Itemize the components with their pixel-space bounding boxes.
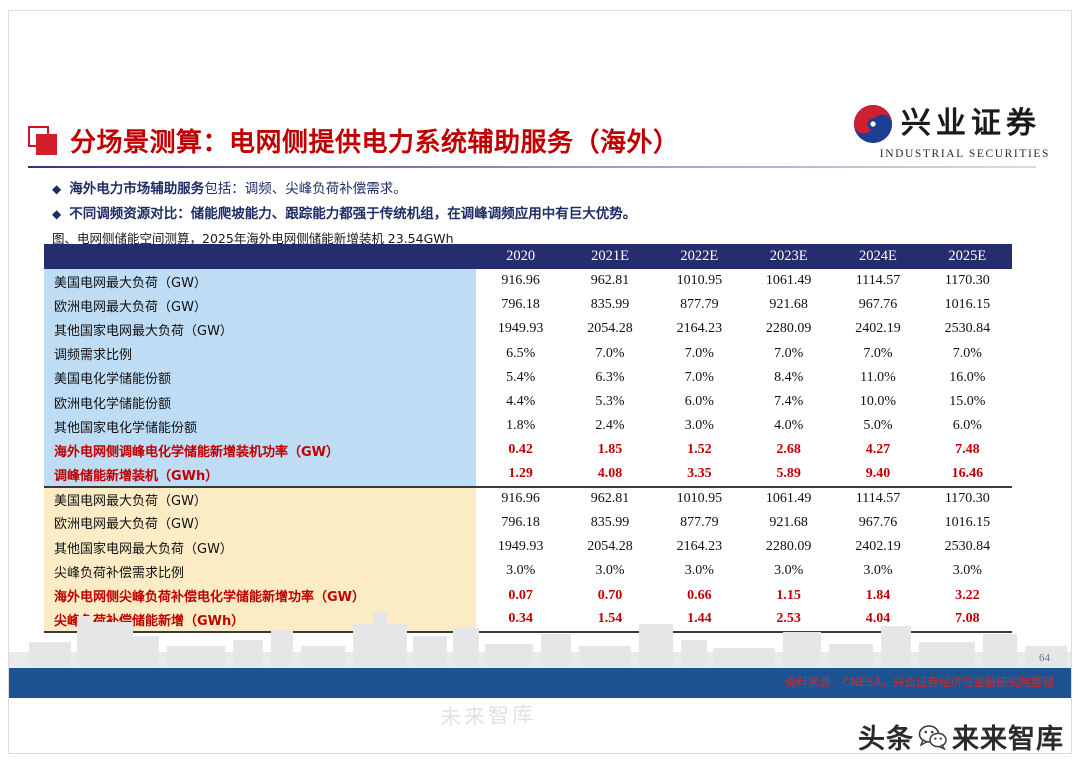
- table-cell: 1.52: [655, 438, 744, 462]
- bottom-watermark: 头条 来来智库: [858, 717, 1064, 756]
- table-cell: 1010.95: [655, 269, 744, 293]
- bullet-1-strong: 海外电力市场辅助服务: [69, 181, 204, 197]
- table-cell: 10.0%: [833, 390, 922, 414]
- row-label: 美国电化学储能份额: [44, 366, 476, 390]
- table-cell: 796.18: [476, 293, 565, 317]
- table-cell: 1170.30: [923, 269, 1012, 293]
- table-cell: 2530.84: [923, 535, 1012, 559]
- table-cell: 6.3%: [565, 366, 654, 390]
- table-cell: 3.0%: [833, 559, 922, 583]
- table-cell: 1.15: [744, 583, 833, 607]
- table-cell: 0.66: [655, 583, 744, 607]
- row-label: 欧洲电化学储能份额: [44, 390, 476, 414]
- table-cell: 4.4%: [476, 390, 565, 414]
- row-label: 其他国家电化学储能份额: [44, 414, 476, 438]
- row-label: 尖峰负荷补偿需求比例: [44, 559, 476, 583]
- table-cell: 921.68: [744, 293, 833, 317]
- table-cell: 7.0%: [744, 342, 833, 366]
- table-cell: 916.96: [476, 269, 565, 293]
- table-cell: 7.4%: [744, 390, 833, 414]
- source-note: 资料来源：CNESA，兴业证券经济与金融研究院整理: [785, 674, 1054, 690]
- table-cell: 0.07: [476, 583, 565, 607]
- col-header-2023e: 2023E: [744, 244, 833, 269]
- bullet-list: ◆ 海外电力市场辅助服务包括：调频、尖峰负荷补偿需求。 ◆ 不同调频资源对比：储…: [52, 180, 1012, 230]
- table-row: 其他国家电网最大负荷（GW）1949.932054.282164.232280.…: [44, 535, 1012, 559]
- col-header-2020: 2020: [476, 244, 565, 269]
- table-cell: 9.40: [833, 463, 922, 487]
- table-cell: 0.70: [565, 583, 654, 607]
- table-cell: 5.89: [744, 463, 833, 487]
- table-row: 美国电网最大负荷（GW）916.96962.811010.951061.4911…: [44, 269, 1012, 293]
- bullet-2-strong: 不同调频资源对比：储能爬坡能力、跟踪能力都强于传统机组，在调峰调频应用中有巨大优…: [69, 206, 636, 222]
- bullet-item-1: ◆ 海外电力市场辅助服务包括：调频、尖峰负荷补偿需求。: [52, 180, 1012, 199]
- table-cell: 967.76: [833, 511, 922, 535]
- table-cell: 2164.23: [655, 317, 744, 341]
- table-header: 2020 2021E 2022E 2023E 2024E 2025E: [44, 244, 1012, 269]
- table-row: 其他国家电化学储能份额1.8%2.4%3.0%4.0%5.0%6.0%: [44, 414, 1012, 438]
- table-cell: 2280.09: [744, 317, 833, 341]
- table-cell: 3.0%: [476, 559, 565, 583]
- table-row: 美国电网最大负荷（GW）916.96962.811010.951061.4911…: [44, 487, 1012, 511]
- col-header-2025e: 2025E: [923, 244, 1012, 269]
- table-cell: 7.0%: [923, 342, 1012, 366]
- table-cell: 835.99: [565, 293, 654, 317]
- table-cell: 2402.19: [833, 317, 922, 341]
- col-header-2021e: 2021E: [565, 244, 654, 269]
- table-cell: 7.48: [923, 438, 1012, 462]
- table-cell: 3.0%: [923, 559, 1012, 583]
- table-cell: 4.08: [565, 463, 654, 487]
- table-cell: 916.96: [476, 487, 565, 511]
- table-cell: 2054.28: [565, 317, 654, 341]
- table-cell: 3.0%: [655, 414, 744, 438]
- table-cell: 16.0%: [923, 366, 1012, 390]
- page-title-bar: 分场景测算：电网侧提供电力系统辅助服务（海外）: [28, 122, 680, 159]
- row-label: 调频需求比例: [44, 342, 476, 366]
- diamond-bullet-icon: ◆: [52, 205, 61, 224]
- table-cell: 1016.15: [923, 511, 1012, 535]
- table-cell: 1061.49: [744, 487, 833, 511]
- table-cell: 7.0%: [655, 342, 744, 366]
- red-square-accent-icon: [28, 126, 58, 156]
- table-cell: 1170.30: [923, 487, 1012, 511]
- page-number: 64: [1039, 652, 1050, 664]
- table-cell: 7.0%: [565, 342, 654, 366]
- table-cell: 5.3%: [565, 390, 654, 414]
- row-label: 美国电网最大负荷（GW）: [44, 269, 476, 293]
- table-cell: 796.18: [476, 511, 565, 535]
- table-cell: 2.4%: [565, 414, 654, 438]
- table-row: 美国电化学储能份额5.4%6.3%7.0%8.4%11.0%16.0%: [44, 366, 1012, 390]
- table-cell: 1010.95: [655, 487, 744, 511]
- data-table: 2020 2021E 2022E 2023E 2024E 2025E 美国电网最…: [44, 244, 1012, 633]
- page-title: 分场景测算：电网侧提供电力系统辅助服务（海外）: [70, 122, 680, 159]
- row-label: 海外电网侧调峰电化学储能新增装机功率（GW）: [44, 438, 476, 462]
- table-cell: 1949.93: [476, 317, 565, 341]
- table-row: 欧洲电网最大负荷（GW）796.18835.99877.79921.68967.…: [44, 293, 1012, 317]
- table-header-row: 2020 2021E 2022E 2023E 2024E 2025E: [44, 244, 1012, 269]
- title-divider: [28, 166, 1036, 168]
- table-cell: 962.81: [565, 269, 654, 293]
- brand-logo: 兴业证券 INDUSTRIAL SECURITIES: [844, 104, 1050, 160]
- table-cell: 7.0%: [833, 342, 922, 366]
- table-row: 海外电网侧尖峰负荷补偿电化学储能新增功率（GW）0.070.700.661.15…: [44, 583, 1012, 607]
- table-cell: 921.68: [744, 511, 833, 535]
- table-row: 欧洲电化学储能份额4.4%5.3%6.0%7.4%10.0%15.0%: [44, 390, 1012, 414]
- table-cell: 16.46: [923, 463, 1012, 487]
- table-cell: 877.79: [655, 293, 744, 317]
- table-cell: 1949.93: [476, 535, 565, 559]
- table-row: 欧洲电网最大负荷（GW）796.18835.99877.79921.68967.…: [44, 511, 1012, 535]
- row-label: 美国电网最大负荷（GW）: [44, 487, 476, 511]
- table-cell: 3.22: [923, 583, 1012, 607]
- slide-root: 兴业证券 INDUSTRIAL SECURITIES 分场景测算：电网侧提供电力…: [0, 0, 1080, 764]
- table-cell: 962.81: [565, 487, 654, 511]
- table-cell: 3.0%: [565, 559, 654, 583]
- table-cell: 11.0%: [833, 366, 922, 390]
- table-cell: 1114.57: [833, 269, 922, 293]
- table-cell: 4.0%: [744, 414, 833, 438]
- table-cell: 2054.28: [565, 535, 654, 559]
- table-cell: 7.0%: [655, 366, 744, 390]
- col-header-2024e: 2024E: [833, 244, 922, 269]
- table-cell: 1.84: [833, 583, 922, 607]
- table-cell: 2530.84: [923, 317, 1012, 341]
- row-label: 欧洲电网最大负荷（GW）: [44, 293, 476, 317]
- row-label: 其他国家电网最大负荷（GW）: [44, 535, 476, 559]
- table-cell: 1.29: [476, 463, 565, 487]
- table-cell: 5.4%: [476, 366, 565, 390]
- row-label: 其他国家电网最大负荷（GW）: [44, 317, 476, 341]
- table-cell: 2164.23: [655, 535, 744, 559]
- table-cell: 6.0%: [655, 390, 744, 414]
- bullet-item-2: ◆ 不同调频资源对比：储能爬坡能力、跟踪能力都强于传统机组，在调峰调频应用中有巨…: [52, 205, 1012, 224]
- table-row: 调峰储能新增装机（GWh）1.294.083.355.899.4016.46: [44, 463, 1012, 487]
- table-cell: 6.5%: [476, 342, 565, 366]
- row-label: 欧洲电网最大负荷（GW）: [44, 511, 476, 535]
- row-label: 调峰储能新增装机（GWh）: [44, 463, 476, 487]
- logo-chinese-name: 兴业证券: [901, 109, 1041, 139]
- table-cell: 1.8%: [476, 414, 565, 438]
- col-header-label: [44, 244, 476, 269]
- logo-english-name: INDUSTRIAL SECURITIES: [880, 148, 1050, 160]
- table-cell: 1.85: [565, 438, 654, 462]
- diamond-bullet-icon: ◆: [52, 180, 61, 199]
- table-cell: 6.0%: [923, 414, 1012, 438]
- table-cell: 4.27: [833, 438, 922, 462]
- wechat-icon: [918, 724, 948, 750]
- city-skyline-decoration: [9, 606, 1071, 668]
- table-cell: 2.68: [744, 438, 833, 462]
- swirl-logo-icon: [853, 104, 893, 144]
- table-cell: 15.0%: [923, 390, 1012, 414]
- table-body: 美国电网最大负荷（GW）916.96962.811010.951061.4911…: [44, 269, 1012, 632]
- table-cell: 967.76: [833, 293, 922, 317]
- bullet-1-normal: 包括：调频、尖峰负荷补偿需求。: [204, 181, 407, 197]
- table-cell: 8.4%: [744, 366, 833, 390]
- row-label: 海外电网侧尖峰负荷补偿电化学储能新增功率（GW）: [44, 583, 476, 607]
- table-cell: 1061.49: [744, 269, 833, 293]
- data-table-wrap: 2020 2021E 2022E 2023E 2024E 2025E 美国电网最…: [44, 244, 1012, 633]
- table-cell: 3.35: [655, 463, 744, 487]
- table-cell: 1114.57: [833, 487, 922, 511]
- watermark-toutiao: 头条: [858, 717, 914, 756]
- table-row: 海外电网侧调峰电化学储能新增装机功率（GW）0.421.851.522.684.…: [44, 438, 1012, 462]
- table-cell: 5.0%: [833, 414, 922, 438]
- table-cell: 3.0%: [744, 559, 833, 583]
- center-watermark: 未来智库: [440, 698, 537, 731]
- table-cell: 3.0%: [655, 559, 744, 583]
- table-row: 尖峰负荷补偿需求比例3.0%3.0%3.0%3.0%3.0%3.0%: [44, 559, 1012, 583]
- table-cell: 835.99: [565, 511, 654, 535]
- col-header-2022e: 2022E: [655, 244, 744, 269]
- table-cell: 2280.09: [744, 535, 833, 559]
- watermark-zhiku: 来来智库: [952, 717, 1064, 756]
- table-row: 调频需求比例6.5%7.0%7.0%7.0%7.0%7.0%: [44, 342, 1012, 366]
- table-cell: 0.42: [476, 438, 565, 462]
- table-row: 其他国家电网最大负荷（GW）1949.932054.282164.232280.…: [44, 317, 1012, 341]
- table-cell: 877.79: [655, 511, 744, 535]
- table-cell: 1016.15: [923, 293, 1012, 317]
- table-cell: 2402.19: [833, 535, 922, 559]
